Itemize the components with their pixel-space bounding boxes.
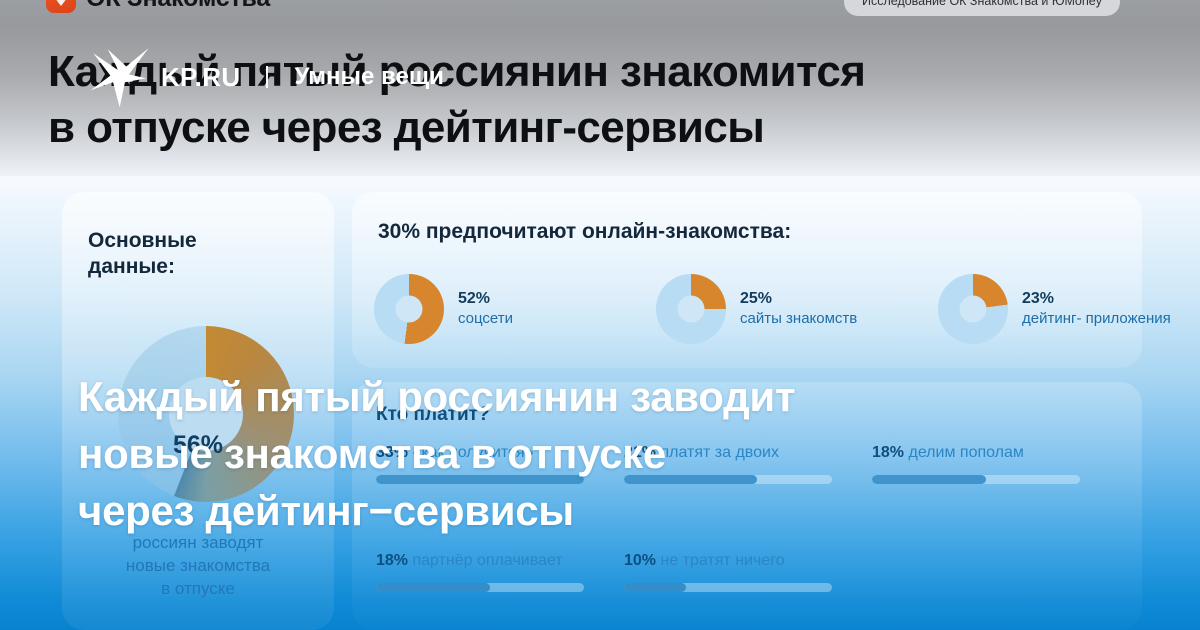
who-pays-text: 10% не тратят ничего [624,552,872,570]
study-badge: Исследование ОК Знакомства и ЮMoney [844,0,1120,16]
overlay-line-3: через дейтинг−сервисы [78,482,1138,539]
online-dating-percent: 52% [458,289,513,309]
online-dating-item: 25%сайты знакомств [656,274,880,344]
main-caption-line-2: новые знакомства [62,555,334,578]
watermark-separator [266,66,268,88]
brand-name: ОК Знакомства [86,0,270,13]
main-caption-line-3: в отпуске [62,578,334,601]
donut-hole [960,296,987,323]
watermark-brand: KP.RU [161,62,241,93]
online-dating-labels: 25%сайты знакомств [740,289,857,329]
ok-app-icon [46,0,76,13]
who-pays-bar-fill [624,583,686,592]
overlay-line-1: Каждый пятый россиянин заводит [78,368,1138,425]
swallow-bird-logo [88,44,154,110]
who-pays-item: 18% партнёр оплачивает [376,552,624,592]
online-dating-item: 52%соцсети [374,274,598,344]
online-dating-card-title: 30% предпочитают онлайн-знакомства: [378,220,791,244]
overlay-headline: Каждый пятый россиянин заводит новые зна… [78,368,1138,539]
online-dating-label: сайты знакомств [740,309,857,329]
watermark-section: Умные вещи [295,63,444,91]
online-dating-card: 30% предпочитают онлайн-знакомства: 52%с… [352,192,1142,368]
online-dating-donut [938,274,1008,344]
brand-row: ОК Знакомства [46,0,270,13]
who-pays-item: 10% не тратят ничего [624,552,872,592]
online-dating-percent: 25% [740,289,857,309]
main-data-caption: россиян заводят новые знакомства в отпус… [62,532,334,600]
online-dating-item: 23%дейтинг- приложения [938,274,1162,344]
online-dating-donut [656,274,726,344]
online-dating-labels: 23%дейтинг- приложения [1022,289,1171,329]
donut-hole [678,296,705,323]
online-dating-donut-row: 52%соцсети25%сайты знакомств23%дейтинг- … [374,274,1162,344]
who-pays-bar-fill [376,583,490,592]
who-pays-bar-track [376,583,584,592]
online-dating-label: соцсети [458,309,513,329]
online-dating-donut [374,274,444,344]
kpru-watermark: KP.RU Умные вещи [88,44,444,110]
who-pays-bar-track [624,583,832,592]
main-data-title-line-2: данные: [88,254,298,280]
main-data-title-line-1: Основные [88,228,298,254]
who-pays-percent: 18% [376,552,408,569]
who-pays-text: 18% партнёр оплачивает [376,552,624,570]
online-dating-label: дейтинг- приложения [1022,309,1171,329]
donut-hole [396,296,423,323]
online-dating-percent: 23% [1022,289,1171,309]
infographic-screenshot: ОК Знакомства Исследование ОК Знакомства… [0,0,1200,630]
who-pays-percent: 10% [624,552,656,569]
main-data-card-title: Основные данные: [88,228,298,281]
online-dating-labels: 52%соцсети [458,289,513,329]
overlay-line-2: новые знакомства в отпуске [78,425,1138,482]
